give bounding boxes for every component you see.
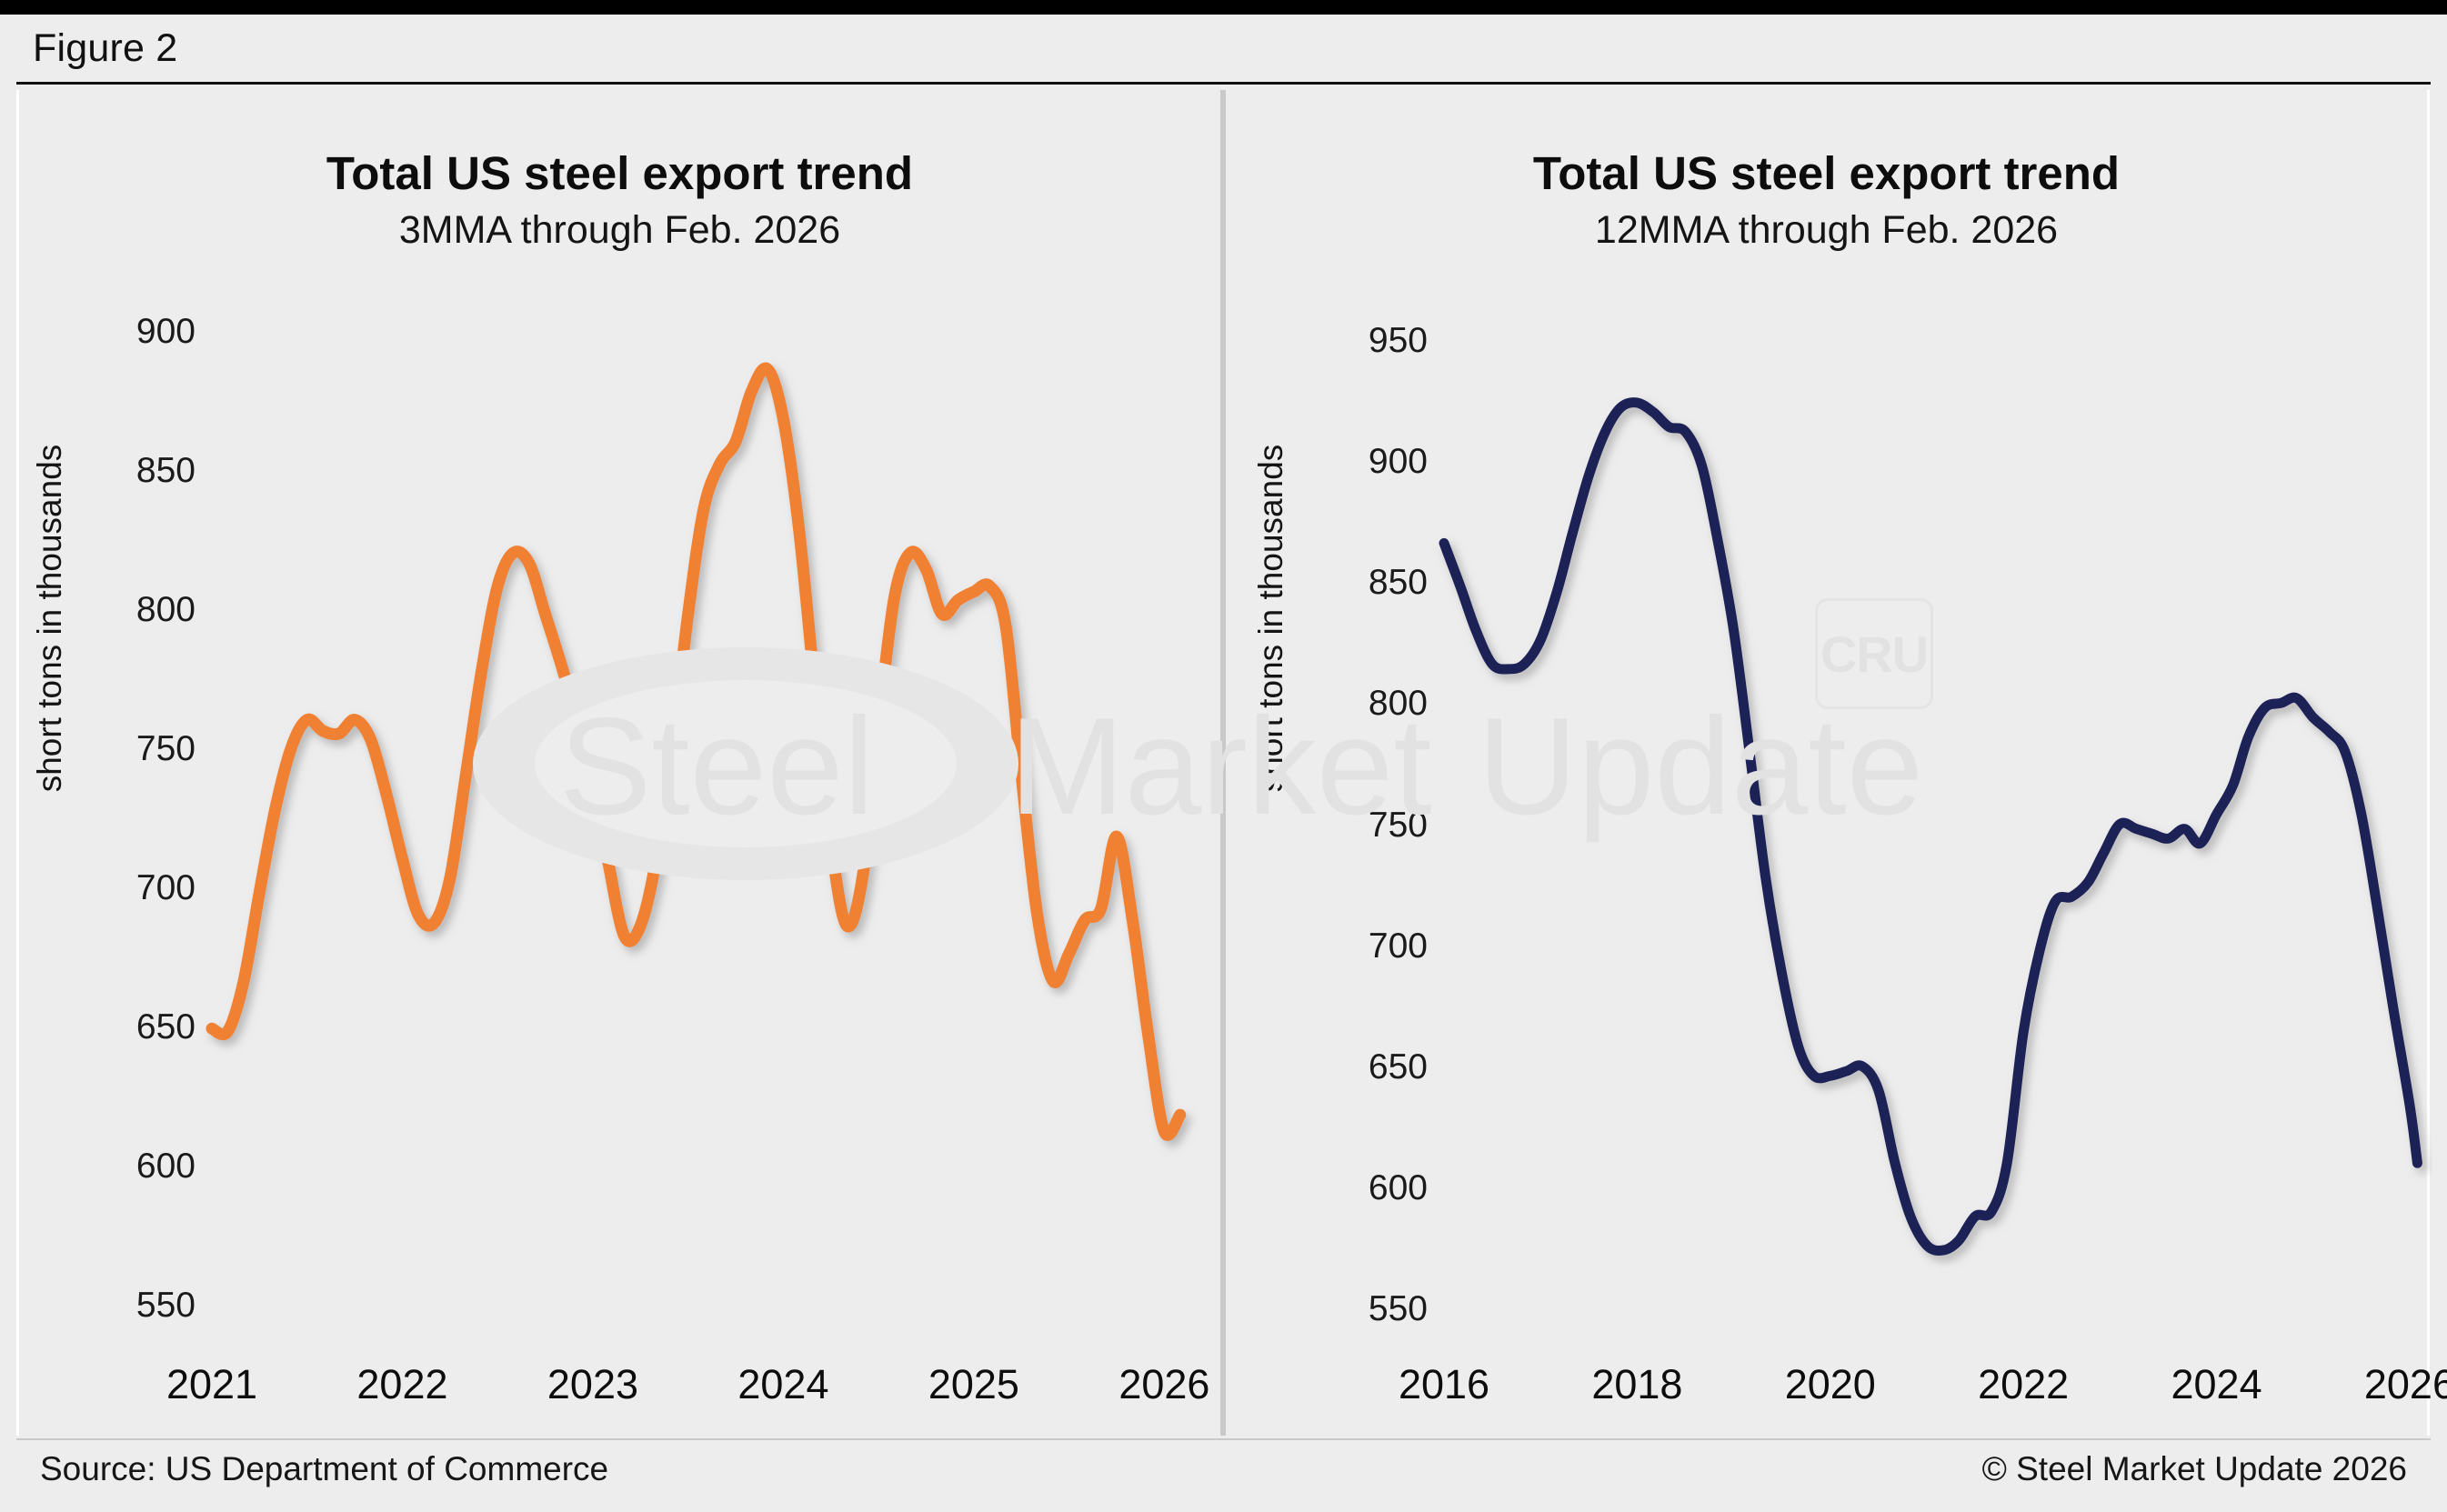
left-plot-area: 5506006507007508008509002021202220232024… (19, 90, 1226, 1436)
cru-logo-watermark: CRU (1815, 598, 1933, 709)
left-3mma-xtick-2024: 2024 (692, 1361, 874, 1408)
right-12mma-ytick-800: 800 (1282, 684, 1428, 724)
right-12mma-xtick-2020: 2020 (1740, 1361, 1921, 1408)
right-12mma-xtick-2024: 2024 (2126, 1361, 2308, 1408)
left-3mma-ytick-650: 650 (50, 1007, 196, 1047)
left-3mma-ytick-600: 600 (50, 1147, 196, 1187)
figure-header: Figure 2 (16, 15, 2431, 85)
right-12mma-ytick-600: 600 (1282, 1168, 1428, 1208)
left-3mma-ytick-550: 550 (50, 1286, 196, 1326)
right-12mma-ytick-700: 700 (1282, 926, 1428, 966)
right-12mma-xtick-2026: 2026 (2319, 1361, 2447, 1408)
charts-container: Total US steel export trend 3MMA through… (16, 90, 2431, 1436)
chart-panel-right: Total US steel export trend 12MMA throug… (1223, 90, 2430, 1436)
plot-left-svg (19, 90, 1226, 1436)
left-3mma-ytick-800: 800 (50, 590, 196, 630)
cru-logo-text: CRU (1820, 625, 1928, 684)
right-12mma-xtick-2018: 2018 (1546, 1361, 1728, 1408)
right-12mma-ytick-550: 550 (1282, 1289, 1428, 1329)
right-12mma-ytick-650: 650 (1282, 1047, 1428, 1087)
left-3mma-ytick-700: 700 (50, 868, 196, 908)
right-12mma-xtick-2016: 2016 (1353, 1361, 1535, 1408)
right-12mma-line (1444, 403, 2417, 1251)
figure-label: Figure 2 (16, 26, 177, 71)
chart-panel-left: Total US steel export trend 3MMA through… (16, 90, 1223, 1436)
left-3mma-ytick-850: 850 (50, 451, 196, 491)
copyright-note: © Steel Market Update 2026 (1982, 1450, 2407, 1488)
right-plot-area: 5506006507007508008509009502016201820202… (1226, 90, 2432, 1436)
left-3mma-ytick-900: 900 (50, 312, 196, 352)
plot-right-svg (1226, 90, 2432, 1436)
left-3mma-ytick-750: 750 (50, 729, 196, 769)
right-12mma-ytick-950: 950 (1282, 321, 1428, 361)
left-3mma-xtick-2025: 2025 (883, 1361, 1065, 1408)
right-12mma-ytick-900: 900 (1282, 442, 1428, 482)
left-3mma-xtick-2023: 2023 (502, 1361, 684, 1408)
left-3mma-xtick-2022: 2022 (311, 1361, 493, 1408)
right-12mma-xtick-2022: 2022 (1932, 1361, 2114, 1408)
left-3mma-line (212, 368, 1180, 1135)
right-12mma-ytick-750: 750 (1282, 806, 1428, 846)
figure-footer: Source: US Department of Commerce © Stee… (16, 1438, 2431, 1498)
source-note: Source: US Department of Commerce (40, 1450, 608, 1488)
left-3mma-xtick-2021: 2021 (121, 1361, 303, 1408)
figure-page: Figure 2 Total US steel export trend 3MM… (0, 0, 2447, 1512)
top-black-bar (0, 0, 2447, 15)
right-12mma-ytick-850: 850 (1282, 563, 1428, 603)
